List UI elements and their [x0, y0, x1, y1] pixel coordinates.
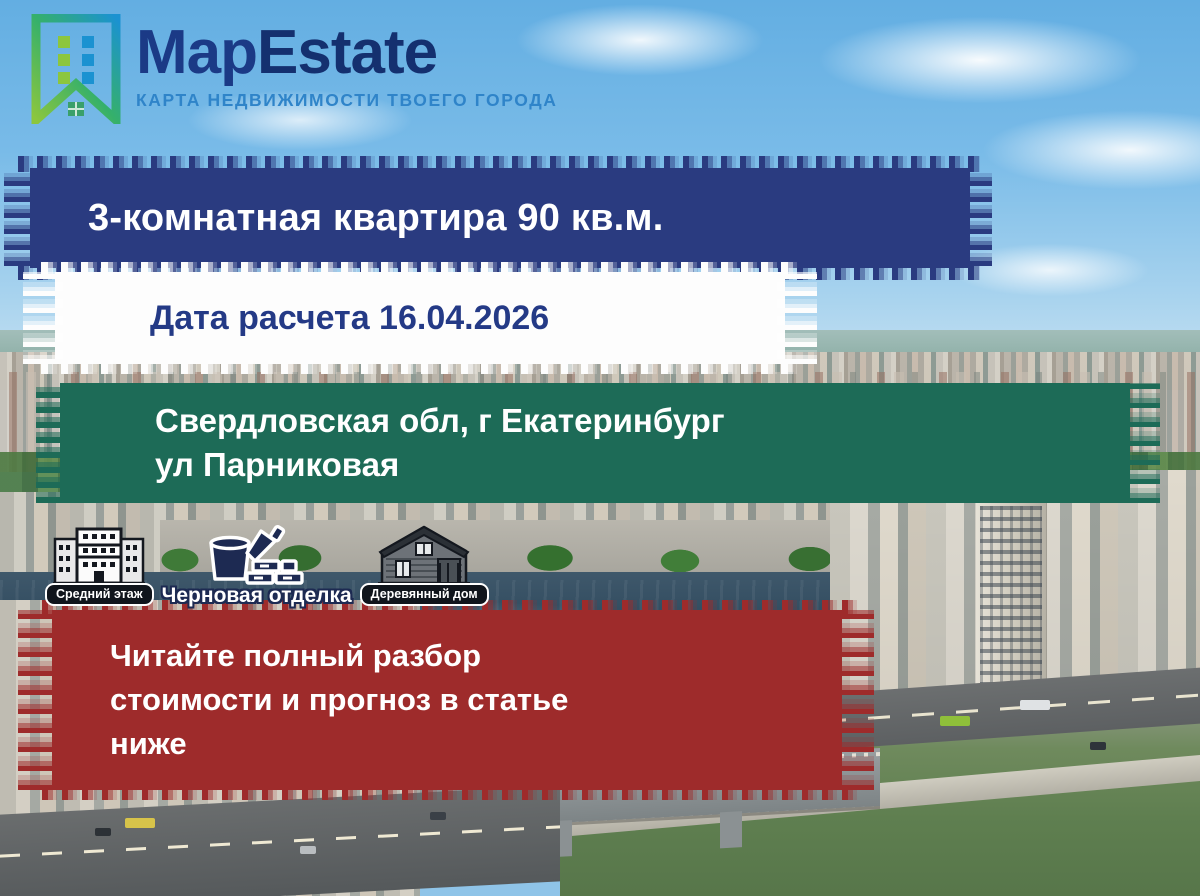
brand-title-estate: Estate	[257, 18, 437, 87]
calculation-date-text: Дата расчета 16.04.2026	[55, 299, 785, 338]
badge-floor-label: Средний этаж	[45, 583, 154, 607]
bus	[125, 818, 155, 828]
vehicle	[430, 812, 446, 820]
address-line-street: ул Парниковая	[155, 443, 1130, 487]
address-text-block: Свердловская обл, г Екатеринбург ул Парн…	[60, 399, 1130, 486]
cta-line-2: стоимости и прогноз в статье	[110, 678, 842, 722]
cta-text-block: Читайте полный разбор стоимости и прогно…	[52, 634, 842, 766]
vehicle	[300, 846, 316, 854]
brand-tagline: КАРТА НЕДВИЖИМОСТИ ТВОЕГО ГОРОДА	[136, 90, 558, 111]
cta-line-1: Читайте полный разбор	[110, 634, 842, 678]
badge-finish-label: Черновая отделка	[162, 585, 352, 606]
bus	[940, 716, 970, 726]
property-title-banner: 3-комнатная квартира 90 кв.м.	[30, 168, 970, 268]
address-banner: Свердловская обл, г Екатеринбург ул Парн…	[60, 383, 1130, 503]
vehicle	[95, 828, 111, 836]
calculation-date-banner: Дата расчета 16.04.2026	[55, 272, 785, 364]
cta-line-3: ниже	[110, 722, 842, 766]
brush-edge-top	[18, 156, 980, 172]
brand-text-block: MapEstate КАРТА НЕДВИЖИМОСТИ ТВОЕГО ГОРО…	[136, 14, 558, 111]
vehicle	[1090, 742, 1106, 750]
wooden-house-icon	[378, 525, 470, 587]
address-line-region: Свердловская обл, г Екатеринбург	[155, 399, 1130, 443]
brand-logo[interactable]: MapEstate КАРТА НЕДВИЖИМОСТИ ТВОЕГО ГОРО…	[30, 14, 558, 124]
property-title-text: 3-комнатная квартира 90 кв.м.	[30, 197, 970, 240]
apartment-building-icon	[53, 525, 145, 587]
paint-bucket-trowel-icon	[203, 525, 311, 587]
feature-badges: Средний этаж Черновая отделка	[45, 516, 489, 606]
brand-title-map: Map	[136, 18, 257, 87]
badge-floor: Средний этаж	[45, 525, 154, 607]
badge-house-type: Деревянный дом	[360, 525, 489, 607]
bookmark-building-icon	[30, 14, 122, 124]
brush-edge-bottom	[41, 360, 799, 374]
brush-edge-bottom	[42, 786, 858, 800]
badge-finish: Черновая отделка	[162, 525, 352, 606]
brand-title: MapEstate	[136, 22, 558, 84]
cta-banner[interactable]: Читайте полный разбор стоимости и прогно…	[52, 610, 842, 790]
brush-edge-top	[41, 262, 799, 276]
badge-house-type-label: Деревянный дом	[360, 583, 489, 607]
bus	[1020, 700, 1050, 710]
bridge-pier	[720, 811, 742, 848]
